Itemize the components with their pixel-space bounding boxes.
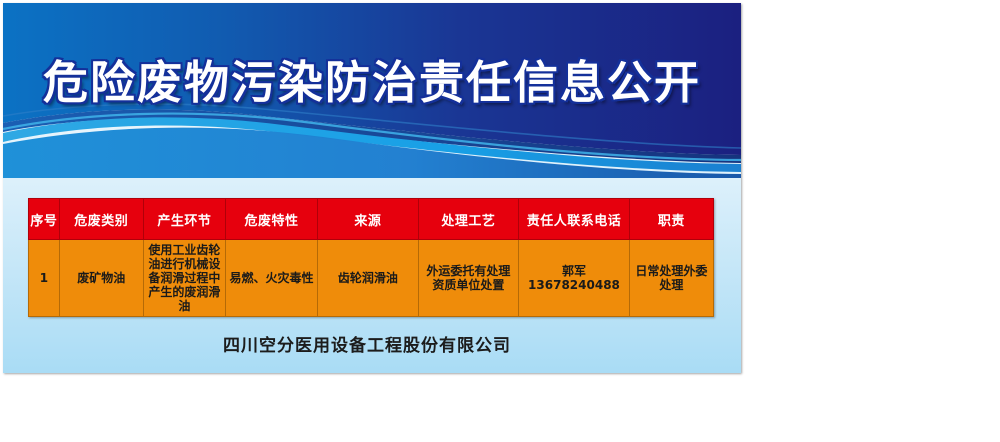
cell-source: 齿轮润滑油: [318, 240, 418, 317]
cell-category: 废矿物油: [59, 240, 143, 317]
table-header-row: 序号 危废类别 产生环节 危废特性 来源 处理工艺 责任人联系电话 职责: [29, 199, 714, 240]
contact-person-name: 郭军: [521, 264, 627, 278]
cell-contact: 郭军 13678240488: [519, 240, 630, 317]
cell-stage: 使用工业齿轮油进行机械设备润滑过程中产生的废润滑油: [143, 240, 225, 317]
column-header-process: 处理工艺: [418, 199, 518, 240]
cell-process: 外运委托有处理资质单位处置: [418, 240, 518, 317]
column-header-seq: 序号: [29, 199, 60, 240]
column-header-duty: 职责: [629, 199, 713, 240]
company-name: 四川空分医用设备工程股份有限公司: [3, 331, 741, 356]
table-row: 1 废矿物油 使用工业齿轮油进行机械设备润滑过程中产生的废润滑油 易燃、火灾毒性…: [29, 240, 714, 317]
cell-duty: 日常处理外委处理: [629, 240, 713, 317]
page-title: 危险废物污染防治责任信息公开: [3, 55, 741, 111]
cell-seq: 1: [29, 240, 60, 317]
column-header-source: 来源: [318, 199, 418, 240]
poster: 危险废物污染防治责任信息公开 序号 危废类别 产生环节 危废特性 来源 处理工艺…: [3, 3, 741, 373]
column-header-property: 危废特性: [225, 199, 317, 240]
cell-property: 易燃、火灾毒性: [225, 240, 317, 317]
hazardous-waste-table: 序号 危废类别 产生环节 危废特性 来源 处理工艺 责任人联系电话 职责 1 废…: [28, 198, 714, 317]
contact-phone-number: 13678240488: [521, 278, 627, 292]
column-header-contact: 责任人联系电话: [519, 199, 630, 240]
column-header-category: 危废类别: [59, 199, 143, 240]
column-header-stage: 产生环节: [143, 199, 225, 240]
